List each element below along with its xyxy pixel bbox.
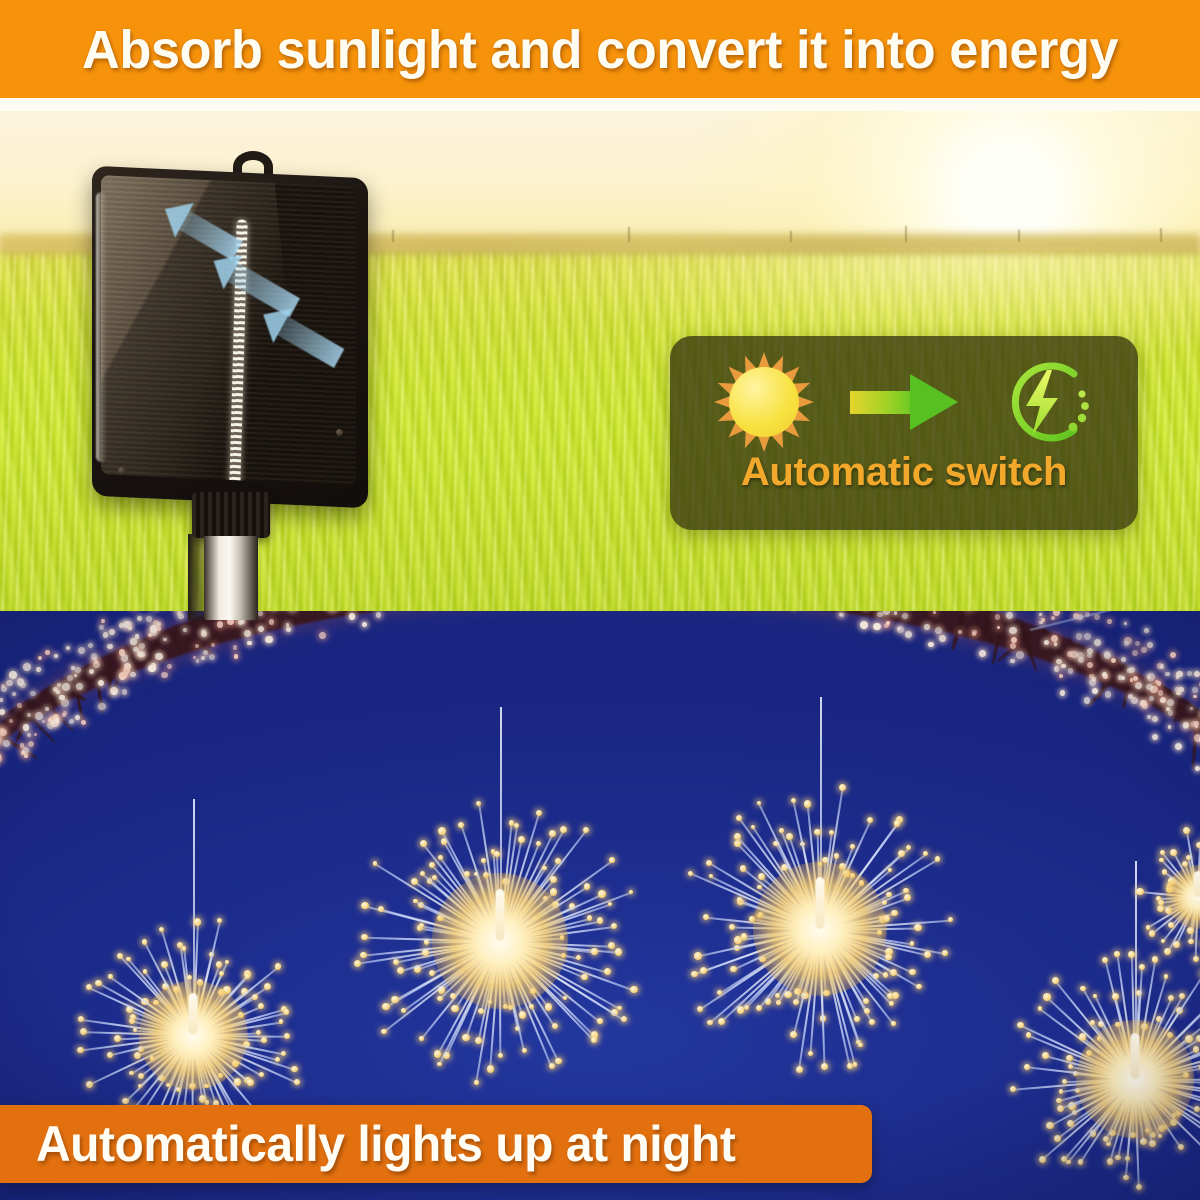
ground-stake <box>204 536 258 620</box>
panel-screw <box>118 467 125 474</box>
bottom-headline-text: Automatically lights up at night <box>36 1119 735 1169</box>
utility-pole <box>628 227 630 242</box>
callout-label: Automatic switch <box>670 452 1138 492</box>
product-marketing-image: Absorb sunlight and convert it into ener… <box>0 0 1200 1200</box>
panel-edge-highlight <box>96 192 107 462</box>
top-headline-banner: Absorb sunlight and convert it into ener… <box>0 0 1200 98</box>
energy-bolt-svg <box>992 350 1096 454</box>
arrow-head <box>910 374 958 430</box>
solar-panel <box>78 150 408 620</box>
bottom-headline-banner: Automatically lights up at night <box>0 1105 872 1183</box>
solar-panel-body <box>92 166 368 509</box>
utility-pole <box>905 226 907 242</box>
utility-pole <box>1018 230 1020 242</box>
panel-connector <box>192 492 270 538</box>
utility-pole <box>790 231 792 242</box>
solar-panel-face <box>101 175 356 486</box>
arrow-right-icon <box>850 374 958 430</box>
arrow-shaft <box>850 391 916 414</box>
sun-icon <box>712 350 816 454</box>
automatic-switch-callout: Automatic switch <box>670 336 1138 530</box>
panel-screw <box>336 429 343 436</box>
banner-divider <box>0 98 1200 111</box>
callout-icon-row <box>670 350 1138 454</box>
utility-pole <box>1160 228 1162 242</box>
energy-bolt-icon <box>992 350 1096 454</box>
sun-disc <box>729 367 799 437</box>
top-headline-text: Absorb sunlight and convert it into ener… <box>82 23 1118 77</box>
